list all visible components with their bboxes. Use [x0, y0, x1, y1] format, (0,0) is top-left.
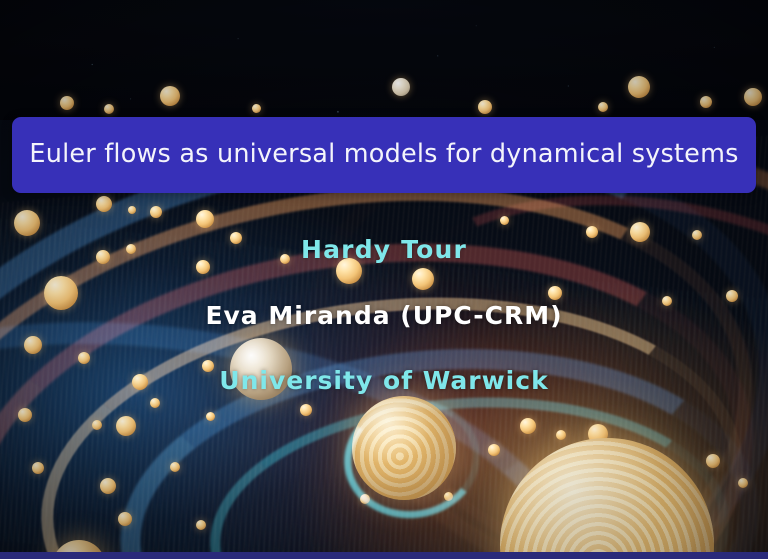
orb: [556, 430, 566, 440]
orb: [196, 210, 214, 228]
orb: [170, 462, 180, 472]
orb: [196, 520, 206, 530]
orb: [32, 462, 44, 474]
subtitle-author: Eva Miranda (UPC-CRM): [0, 303, 768, 328]
orb: [300, 404, 312, 416]
orb: [78, 352, 90, 364]
slide-title-bar: Euler flows as universal models for dyna…: [12, 117, 756, 193]
background-artwork: [0, 0, 768, 559]
slide-title: Euler flows as universal models for dyna…: [29, 142, 738, 168]
orb: [100, 478, 116, 494]
orb: [488, 444, 500, 456]
orb: [160, 86, 180, 106]
orb: [548, 286, 562, 300]
orb: [104, 104, 114, 114]
orb: [628, 76, 650, 98]
orb: [744, 88, 762, 106]
orb: [128, 206, 136, 214]
subtitle-institution: University of Warwick: [0, 368, 768, 393]
orb: [150, 206, 162, 218]
orb: [520, 418, 536, 434]
presentation-slide: Euler flows as universal models for dyna…: [0, 0, 768, 559]
orb: [18, 408, 32, 422]
orb: [478, 100, 492, 114]
orb: [116, 416, 136, 436]
orb: [738, 478, 748, 488]
orb: [150, 398, 160, 408]
orb: [92, 420, 102, 430]
orb: [14, 210, 40, 236]
orb: [118, 512, 132, 526]
orb: [96, 196, 112, 212]
orb: [500, 216, 509, 225]
orb: [700, 96, 712, 108]
orb: [726, 290, 738, 302]
orb: [392, 78, 410, 96]
orb: [252, 104, 261, 113]
bottom-accent-bar: [0, 552, 768, 559]
orb: [598, 102, 608, 112]
orb: [24, 336, 42, 354]
subtitle-event-name: Hardy Tour: [0, 237, 768, 262]
orb: [196, 260, 210, 274]
orb: [60, 96, 74, 110]
orb: [706, 454, 720, 468]
orb: [206, 412, 215, 421]
orb: [412, 268, 434, 290]
